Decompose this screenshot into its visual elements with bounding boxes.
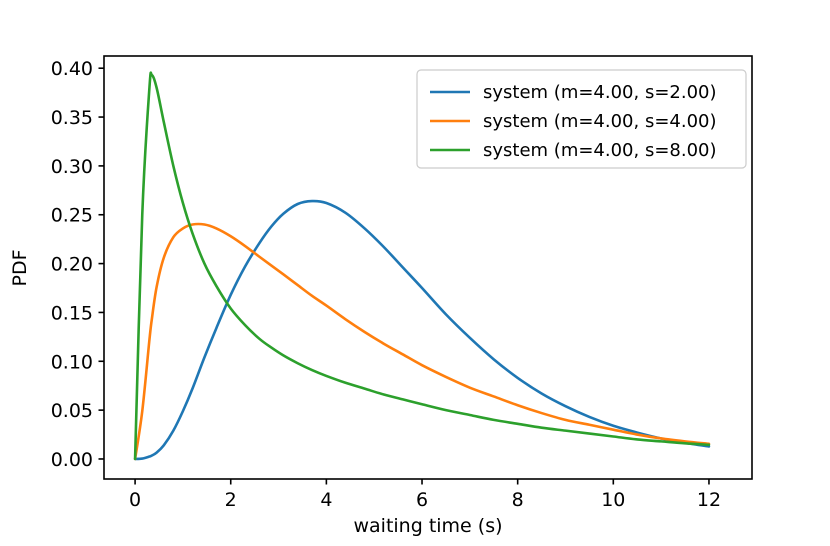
x-tick-label: 8 [512, 489, 524, 511]
x-tick-label: 12 [697, 489, 721, 511]
y-tick-label: 0.00 [51, 449, 93, 471]
y-tick-label: 0.35 [51, 107, 93, 129]
series-line-0 [135, 201, 709, 459]
series-line-1 [135, 224, 709, 459]
chart-legend[interactable]: system (m=4.00, s=2.00)system (m=4.00, s… [417, 70, 746, 168]
x-tick-label: 2 [225, 489, 237, 511]
y-tick-label: 0.20 [51, 254, 93, 276]
y-tick-label: 0.40 [51, 58, 93, 80]
y-tick-label: 0.15 [51, 302, 93, 324]
legend-label-1: system (m=4.00, s=4.00) [483, 111, 717, 132]
y-tick-label: 0.25 [51, 205, 93, 227]
x-axis-ticks: 024681012 [129, 479, 721, 511]
x-tick-label: 0 [129, 489, 141, 511]
y-axis-label: PDF [9, 249, 31, 286]
y-tick-label: 0.05 [51, 400, 93, 422]
figure-canvas: 024681012 0.000.050.100.150.200.250.300.… [0, 0, 830, 546]
y-tick-label: 0.30 [51, 156, 93, 178]
legend-label-0: system (m=4.00, s=2.00) [483, 82, 717, 103]
x-tick-label: 4 [320, 489, 332, 511]
y-tick-label: 0.10 [51, 351, 93, 373]
legend-label-2: system (m=4.00, s=8.00) [483, 140, 717, 161]
plot-area: 024681012 0.000.050.100.150.200.250.300.… [0, 0, 830, 546]
y-axis-ticks: 0.000.050.100.150.200.250.300.350.40 [51, 58, 104, 471]
x-tick-label: 10 [601, 489, 625, 511]
x-tick-label: 6 [416, 489, 428, 511]
x-axis-label: waiting time (s) [353, 515, 502, 537]
